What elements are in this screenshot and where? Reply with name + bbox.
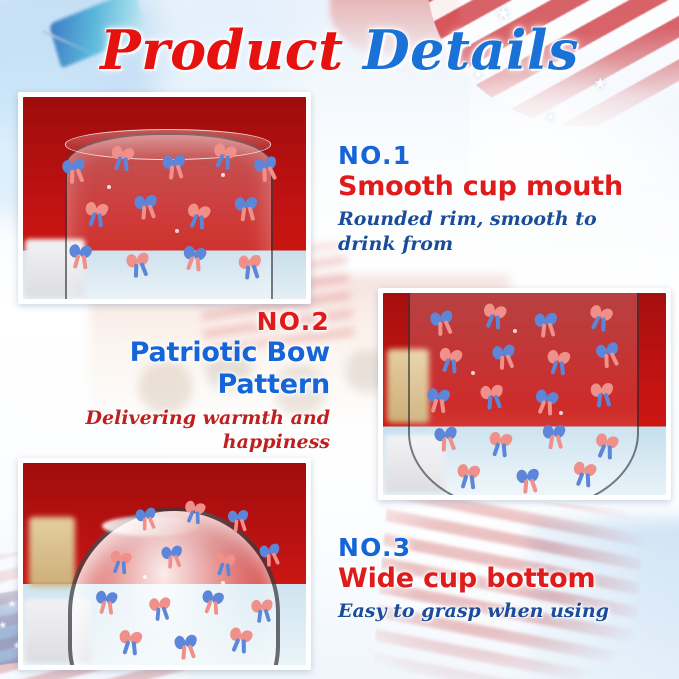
feature-tagline-3: Easy to grasp when using (338, 599, 658, 624)
bow-pattern-overlay (23, 97, 306, 299)
page-title: Product Details (0, 18, 679, 82)
bow-pattern-overlay (383, 293, 666, 495)
feature-headline-2: Patriotic Bow Pattern (8, 337, 330, 402)
feature-tagline-1: Rounded rim, smooth to drink from (338, 207, 658, 256)
feature-number-3: NO.3 (338, 534, 658, 562)
product-photo-bottom (18, 458, 311, 670)
photo-scene-bottom (23, 463, 306, 665)
feature-block-3: NO.3 Wide cup bottom Easy to grasp when … (338, 534, 658, 624)
bow-pattern-overlay (23, 463, 306, 665)
feature-headline-1: Smooth cup mouth (338, 171, 658, 203)
product-photo-rim (18, 92, 311, 304)
product-photo-body (378, 288, 671, 500)
photo-scene-body (383, 293, 666, 495)
page-title-blue: Details (344, 18, 579, 82)
feature-block-2: NO.2 Patriotic Bow Pattern Delivering wa… (8, 308, 330, 455)
star-icon: ★ (546, 112, 555, 123)
photo-scene-rim (23, 97, 306, 299)
feature-headline-3: Wide cup bottom (338, 563, 658, 595)
feature-number-2: NO.2 (8, 308, 330, 336)
feature-number-1: NO.1 (338, 142, 658, 170)
feature-tagline-2: Delivering warmth and happiness (8, 406, 330, 455)
page-title-red: Product (100, 18, 343, 82)
product-details-poster: ★ ★ ★ ★ ★ ★ ★ ★ ★ ★ ★ ★ ★ ★ Product Deta… (0, 0, 679, 679)
feature-block-1: NO.1 Smooth cup mouth Rounded rim, smoot… (338, 142, 658, 257)
